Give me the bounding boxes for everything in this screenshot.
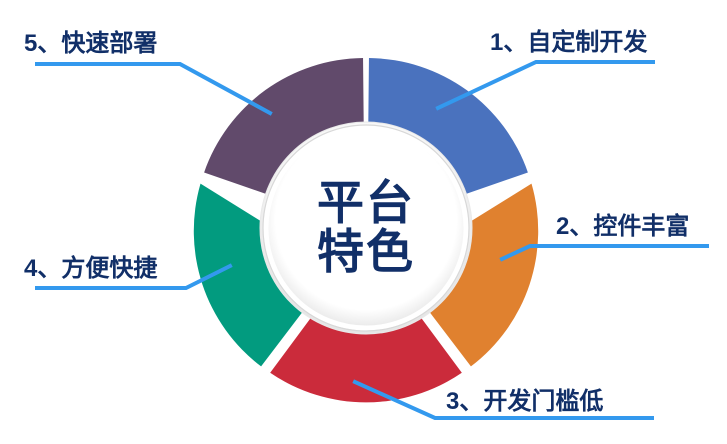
callout-label-2[interactable]: 2、控件丰富 — [556, 206, 689, 241]
callout-label-3[interactable]: 3、开发门槛低 — [446, 381, 603, 416]
leader-line-5 — [37, 64, 270, 113]
callout-label-4[interactable]: 4、方便快捷 — [24, 248, 157, 283]
callout-label-5[interactable]: 5、快速部署 — [24, 23, 157, 58]
donut-hub — [260, 122, 472, 334]
diagram-canvas: 平台 特色 1、自定制开发 2、控件丰富 3、开发门槛低 4、方便快捷 5、快速… — [0, 0, 727, 444]
callout-label-1[interactable]: 1、自定制开发 — [490, 22, 647, 57]
